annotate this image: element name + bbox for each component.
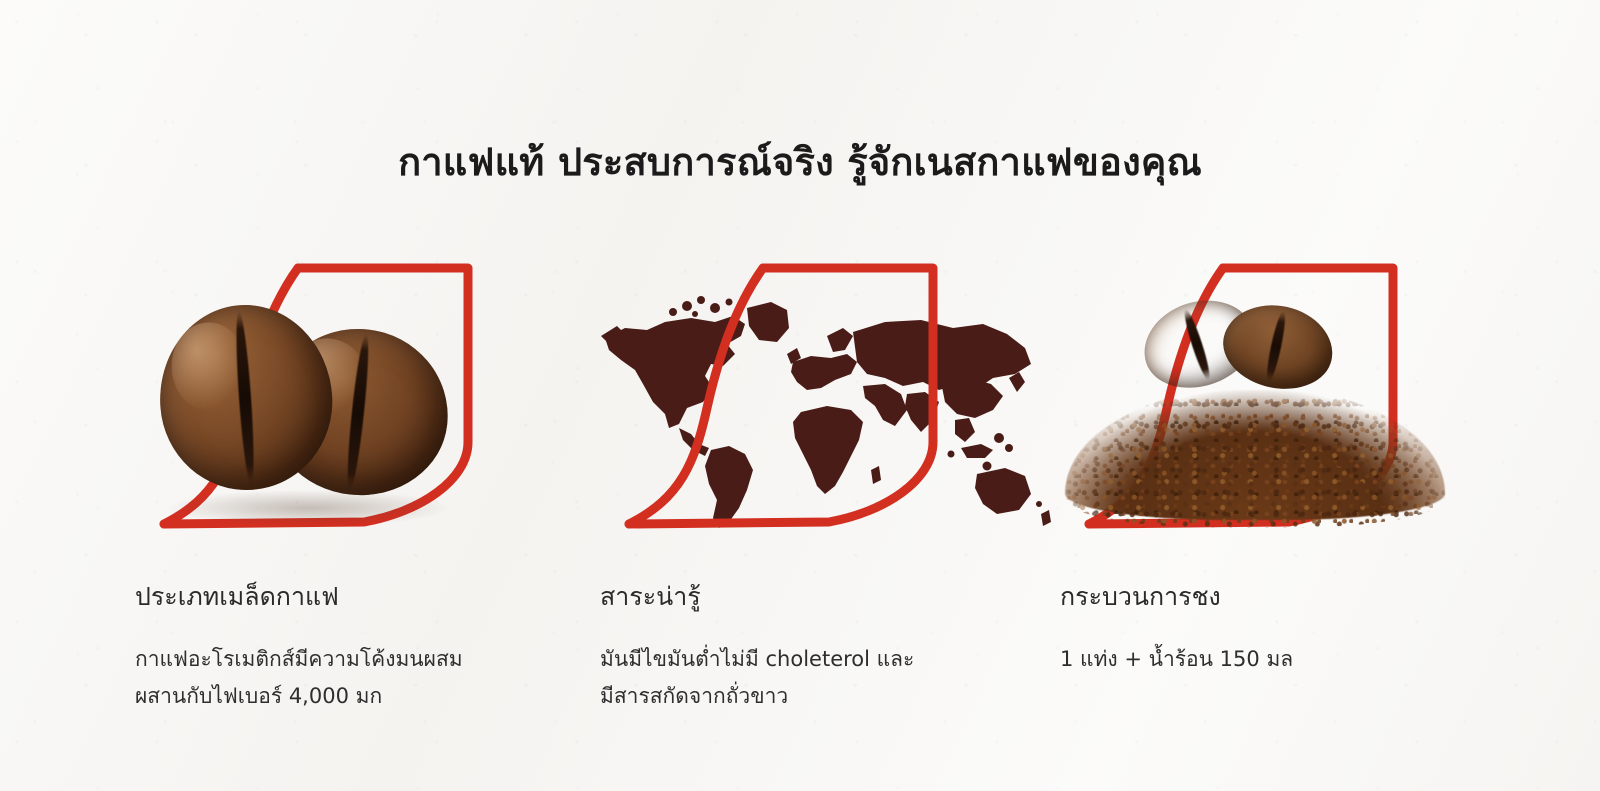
ground-coffee-photo bbox=[1065, 296, 1445, 536]
feature-column-bean-types: ประเภทเมล็ดกาแฟ กาแฟอะโรเมติกส์มีความโค้… bbox=[130, 236, 600, 756]
column-body-facts: มันมีไขมันต่ำไม่มี choleterol และ มีสารส… bbox=[600, 641, 1030, 715]
body-line: มีสารสกัดจากถั่วขาว bbox=[600, 678, 1030, 715]
feature-column-brewing: กระบวนการชง 1 แท่ง + น้ำร้อน 150 มล bbox=[1055, 236, 1525, 756]
column-heading-bean-types: ประเภทเมล็ดกาแฟ bbox=[135, 581, 339, 614]
coffee-beans-photo bbox=[160, 291, 460, 536]
red-leaf-outline-icon bbox=[615, 246, 955, 536]
column-heading-brewing: กระบวนการชง bbox=[1060, 581, 1221, 614]
page-title: กาแฟแท้ ประสบการณ์จริง รู้จักเนสกาแฟของค… bbox=[0, 139, 1600, 187]
body-line: 1 แท่ง + น้ำร้อน 150 มล bbox=[1060, 641, 1490, 678]
body-line: มันมีไขมันต่ำไม่มี choleterol และ bbox=[600, 641, 1030, 678]
body-line: กาแฟอะโรเมติกส์มีความโค้งมนผสม bbox=[135, 641, 565, 678]
column-heading-facts: สาระน่ารู้ bbox=[600, 581, 701, 614]
column-body-brewing: 1 แท่ง + น้ำร้อน 150 มล bbox=[1060, 641, 1490, 678]
visual-bean-types bbox=[130, 236, 600, 546]
coffee-info-page: กาแฟแท้ ประสบการณ์จริง รู้จักเนสกาแฟของค… bbox=[0, 0, 1600, 791]
feature-column-facts: สาระน่ารู้ มันมีไขมันต่ำไม่มี choleterol… bbox=[595, 236, 1065, 756]
visual-brewing bbox=[1055, 236, 1525, 546]
column-body-bean-types: กาแฟอะโรเมติกส์มีความโค้งมนผสม ผสานกับไฟ… bbox=[135, 641, 565, 715]
beans-drop-shadow bbox=[168, 490, 448, 526]
visual-facts bbox=[595, 236, 1065, 546]
body-line: ผสานกับไฟเบอร์ 4,000 มก bbox=[135, 678, 565, 715]
coffee-grounds-texture bbox=[1065, 388, 1445, 528]
feature-columns: ประเภทเมล็ดกาแฟ กาแฟอะโรเมติกส์มีความโค้… bbox=[0, 236, 1600, 756]
